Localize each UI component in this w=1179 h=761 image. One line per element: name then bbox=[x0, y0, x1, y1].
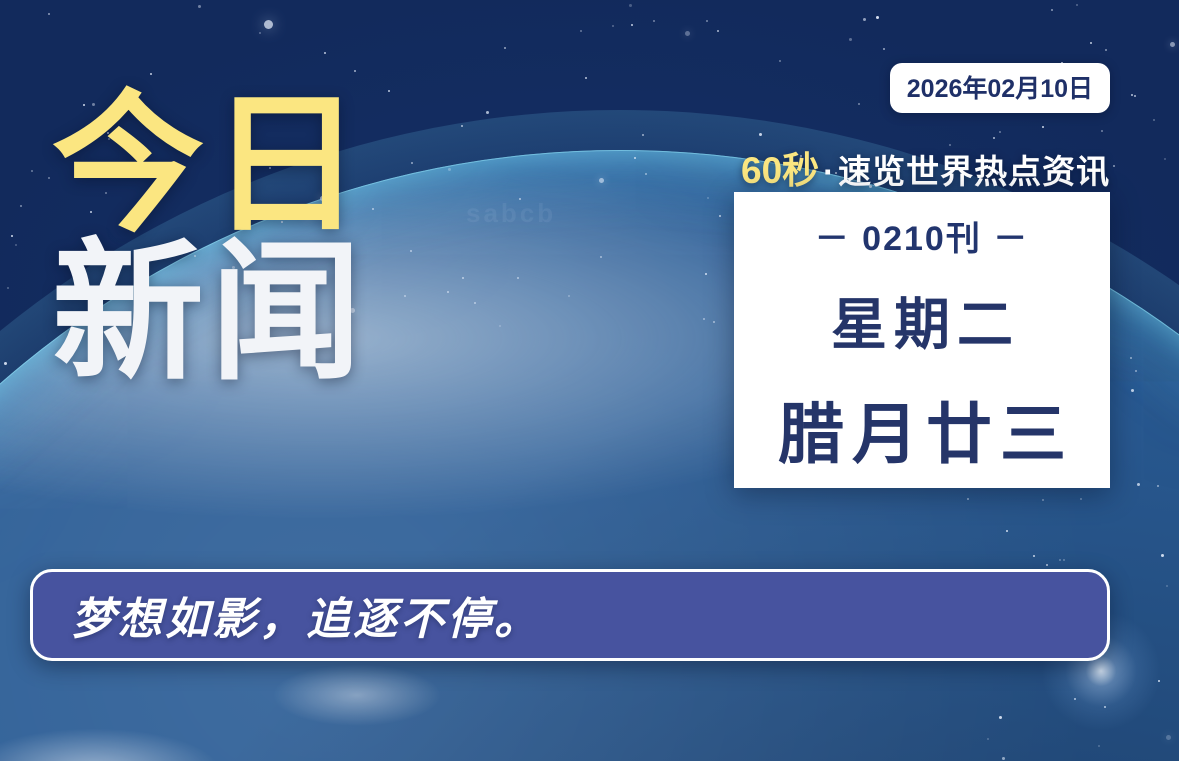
tagline-seconds: 60秒 bbox=[741, 150, 819, 191]
slogan-text: 梦想如影，追逐不停。 bbox=[71, 583, 541, 647]
tagline-text: 速览世界热点资讯 bbox=[838, 153, 1110, 190]
watermark-text: sabcb bbox=[466, 198, 556, 229]
tagline-separator: · bbox=[819, 153, 838, 190]
weekday-label: 星期二 bbox=[824, 280, 1020, 361]
tagline: 60秒·速览世界热点资讯 bbox=[741, 140, 1110, 194]
date-info-card: － 0210刊 － 星期二 腊月廿三 bbox=[734, 192, 1110, 488]
news-poster: sabcb 今日 新闻 2026年02月10日 60秒·速览世界热点资讯 － 0… bbox=[0, 0, 1179, 761]
lunar-date-label: 腊月廿三 bbox=[770, 381, 1074, 477]
date-badge: 2026年02月10日 bbox=[890, 63, 1110, 113]
page-title: 今日 新闻 bbox=[52, 96, 472, 384]
title-line-news: 新闻 bbox=[52, 244, 472, 384]
issue-number: － 0210刊 － bbox=[815, 211, 1030, 260]
slogan-banner: 梦想如影，追逐不停。 bbox=[30, 569, 1110, 661]
title-line-today: 今日 bbox=[52, 96, 472, 236]
